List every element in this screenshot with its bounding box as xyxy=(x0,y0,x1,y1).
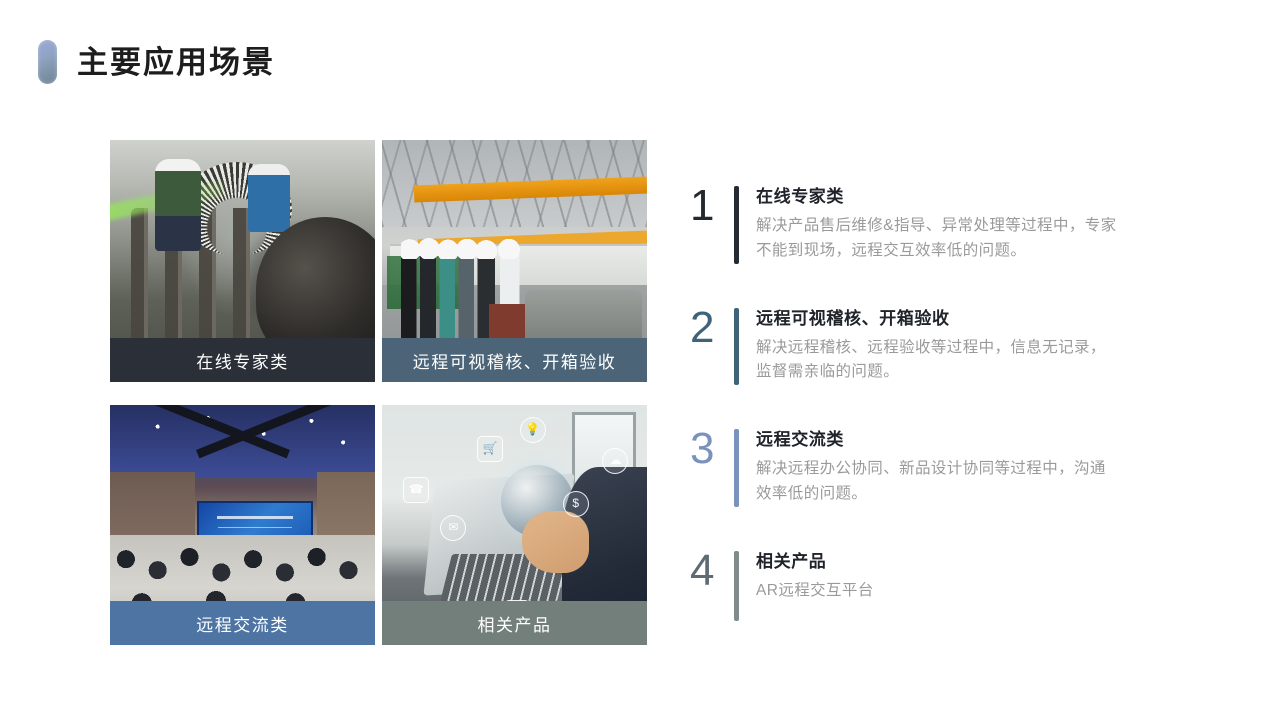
list-item[interactable]: 4 相关产品 AR远程交互平台 xyxy=(690,543,1210,621)
item-description: 解决远程稽核、远程验收等过程中，信息无记录， 监督需亲临的问题。 xyxy=(756,336,1210,386)
item-text-block: 相关产品 AR远程交互平台 xyxy=(756,543,1210,604)
item-accent-bar xyxy=(734,308,739,386)
item-text-block: 在线专家类 解决产品售后维修&指导、异常处理等过程中，专家 不能到现场，远程交互… xyxy=(756,178,1210,264)
item-accent-bar xyxy=(734,186,739,264)
item-text-block: 远程可视稽核、开箱验收 解决远程稽核、远程验收等过程中，信息无记录， 监督需亲临… xyxy=(756,300,1210,386)
item-text-block: 远程交流类 解决远程办公协同、新品设计协同等过程中，沟通 效率低的问题。 xyxy=(756,421,1210,507)
list-item[interactable]: 1 在线专家类 解决产品售后维修&指导、异常处理等过程中，专家 不能到现场，远程… xyxy=(690,178,1210,264)
page-title: 主要应用场景 xyxy=(77,47,275,78)
dollar-icon: $ xyxy=(563,491,589,517)
photo-caption: 相关产品 xyxy=(382,601,647,645)
item-heading: 远程可视稽核、开箱验收 xyxy=(756,304,1210,329)
item-accent-bar xyxy=(734,551,739,621)
item-heading: 在线专家类 xyxy=(756,182,1210,207)
item-number: 3 xyxy=(690,421,734,477)
photo-card-remote-communication[interactable]: 远程交流类 xyxy=(110,405,375,645)
photo-caption: 远程交流类 xyxy=(110,601,375,645)
worker-figure-icon xyxy=(248,164,290,232)
scenario-item-list: 1 在线专家类 解决产品售后维修&指导、异常处理等过程中，专家 不能到现场，远程… xyxy=(690,178,1210,621)
photo-card-online-expert[interactable]: 在线专家类 xyxy=(110,140,375,382)
item-heading: 相关产品 xyxy=(756,547,1210,572)
photo-caption: 在线专家类 xyxy=(110,338,375,382)
list-item[interactable]: 2 远程可视稽核、开箱验收 解决远程稽核、远程验收等过程中，信息无记录， 监督需… xyxy=(690,300,1210,386)
page-header: 主要应用场景 xyxy=(38,40,275,84)
scenario-photo-grid: 在线专家类 远程可视稽核、开箱验收 远程交流类 xyxy=(110,140,647,645)
phone-icon: ☎ xyxy=(403,477,429,503)
item-heading: 远程交流类 xyxy=(756,425,1210,450)
cart-icon: 🛒 xyxy=(477,436,503,462)
bulb-icon: 💡 xyxy=(520,417,546,443)
list-item[interactable]: 3 远程交流类 解决远程办公协同、新品设计协同等过程中，沟通 效率低的问题。 xyxy=(690,421,1210,507)
item-number: 1 xyxy=(690,178,734,234)
item-description: AR远程交互平台 xyxy=(756,579,1210,604)
item-number: 4 xyxy=(690,543,734,599)
photo-caption: 远程可视稽核、开箱验收 xyxy=(382,338,647,382)
photo-card-remote-audit[interactable]: 远程可视稽核、开箱验收 xyxy=(382,140,647,382)
photo-card-related-product[interactable]: 🛒 ☁ $ ✉ ☎ 💡 ▢ 相关产品 xyxy=(382,405,647,645)
star-ceiling-icon xyxy=(110,405,375,477)
hand-icon xyxy=(522,511,588,573)
safety-helmet-icon xyxy=(401,237,576,259)
item-description: 解决远程办公协同、新品设计协同等过程中，沟通 效率低的问题。 xyxy=(756,457,1210,507)
item-number: 2 xyxy=(690,300,734,356)
item-description: 解决产品售后维修&指导、异常处理等过程中，专家 不能到现场，远程交互效率低的问题… xyxy=(756,214,1210,264)
worker-figure-icon xyxy=(155,159,201,251)
title-marker-pill xyxy=(38,40,57,84)
item-accent-bar xyxy=(734,429,739,507)
